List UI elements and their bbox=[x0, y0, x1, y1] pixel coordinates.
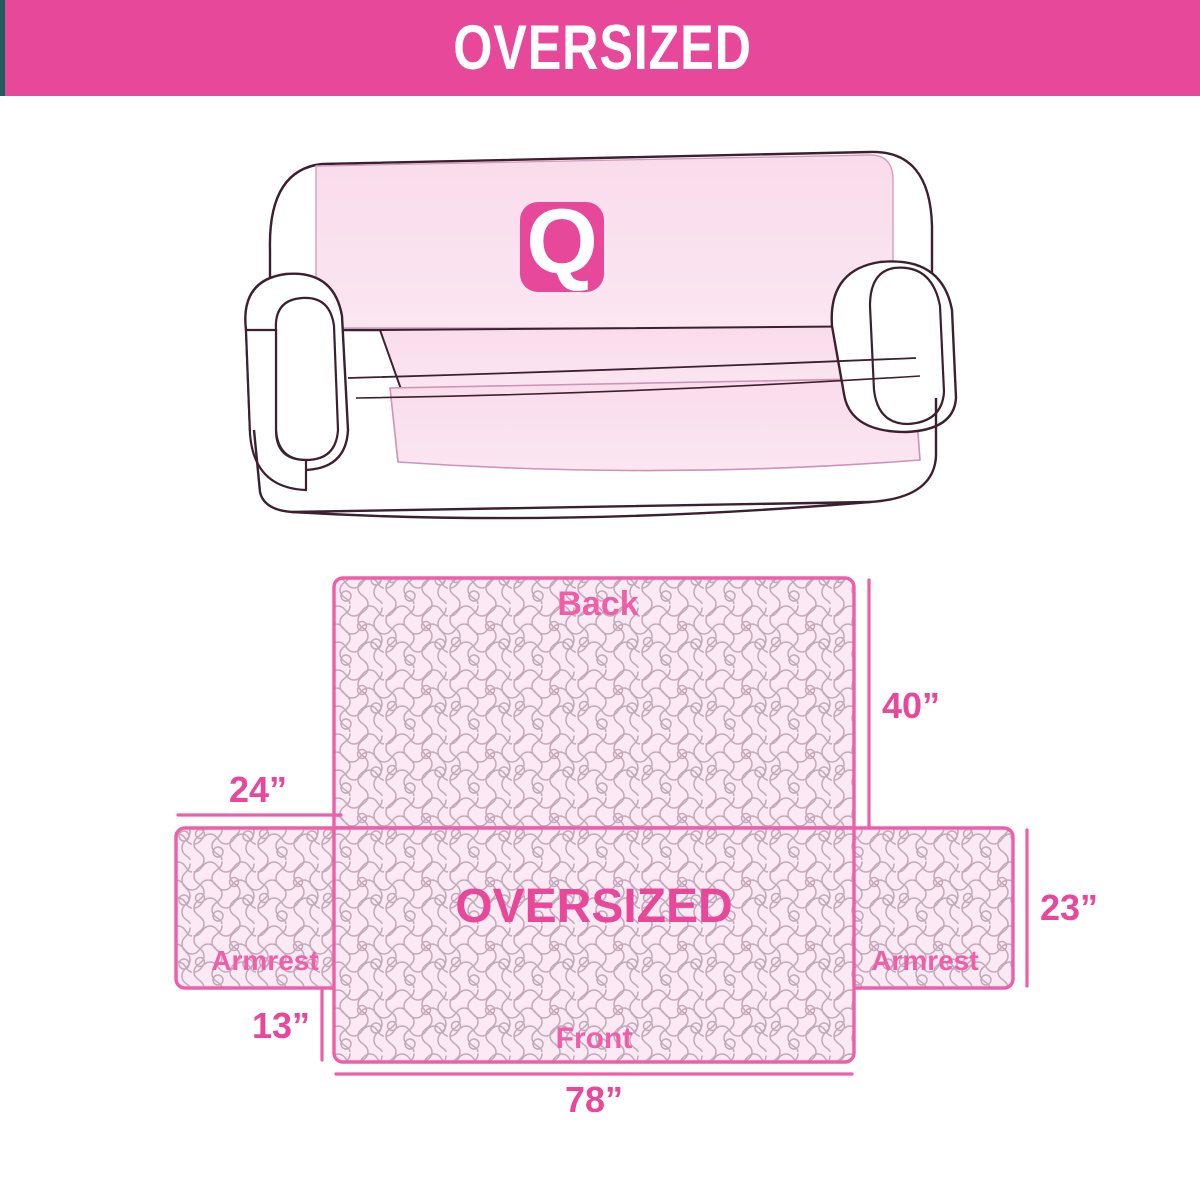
panel-label-armrest-right: Armrest bbox=[871, 945, 978, 976]
page-title: OVERSIZED bbox=[453, 17, 751, 80]
sofa-illustration: Q bbox=[230, 130, 970, 520]
dimension-front-height-value: 13” bbox=[252, 1005, 310, 1046]
dimension-total-width-value: 78” bbox=[565, 1079, 623, 1120]
sofa-right-arm-roll bbox=[870, 268, 944, 424]
panel-label-back: Back bbox=[557, 585, 638, 623]
dimension-armrest-width-value: 24” bbox=[229, 769, 287, 810]
sofa-left-arm-roll bbox=[276, 298, 338, 460]
brand-logo-letter: Q bbox=[526, 191, 598, 293]
cover-diagram: Back Armrest Armrest Front OVERSIZED 40”… bbox=[0, 540, 1200, 1140]
brand-logo-badge: Q bbox=[520, 191, 604, 293]
dimension-back-height-value: 40” bbox=[882, 685, 940, 726]
dimension-front-height: 13” bbox=[252, 990, 322, 1060]
dimension-armrest-height-value: 23” bbox=[1040, 887, 1098, 928]
panel-label-front: Front bbox=[556, 1022, 633, 1055]
sofa-backrest-cushion bbox=[316, 155, 893, 328]
sofa-front-skirt bbox=[390, 378, 920, 471]
dimension-armrest-height: 23” bbox=[1027, 830, 1098, 986]
dimension-back-height: 40” bbox=[869, 580, 940, 828]
dimension-total-width: 78” bbox=[336, 1074, 852, 1120]
header-banner: OVERSIZED bbox=[0, 0, 1200, 96]
dimension-armrest-width: 24” bbox=[178, 769, 341, 815]
panel-label-armrest-left: Armrest bbox=[211, 945, 318, 976]
diagram-center-label: OVERSIZED bbox=[455, 880, 732, 933]
